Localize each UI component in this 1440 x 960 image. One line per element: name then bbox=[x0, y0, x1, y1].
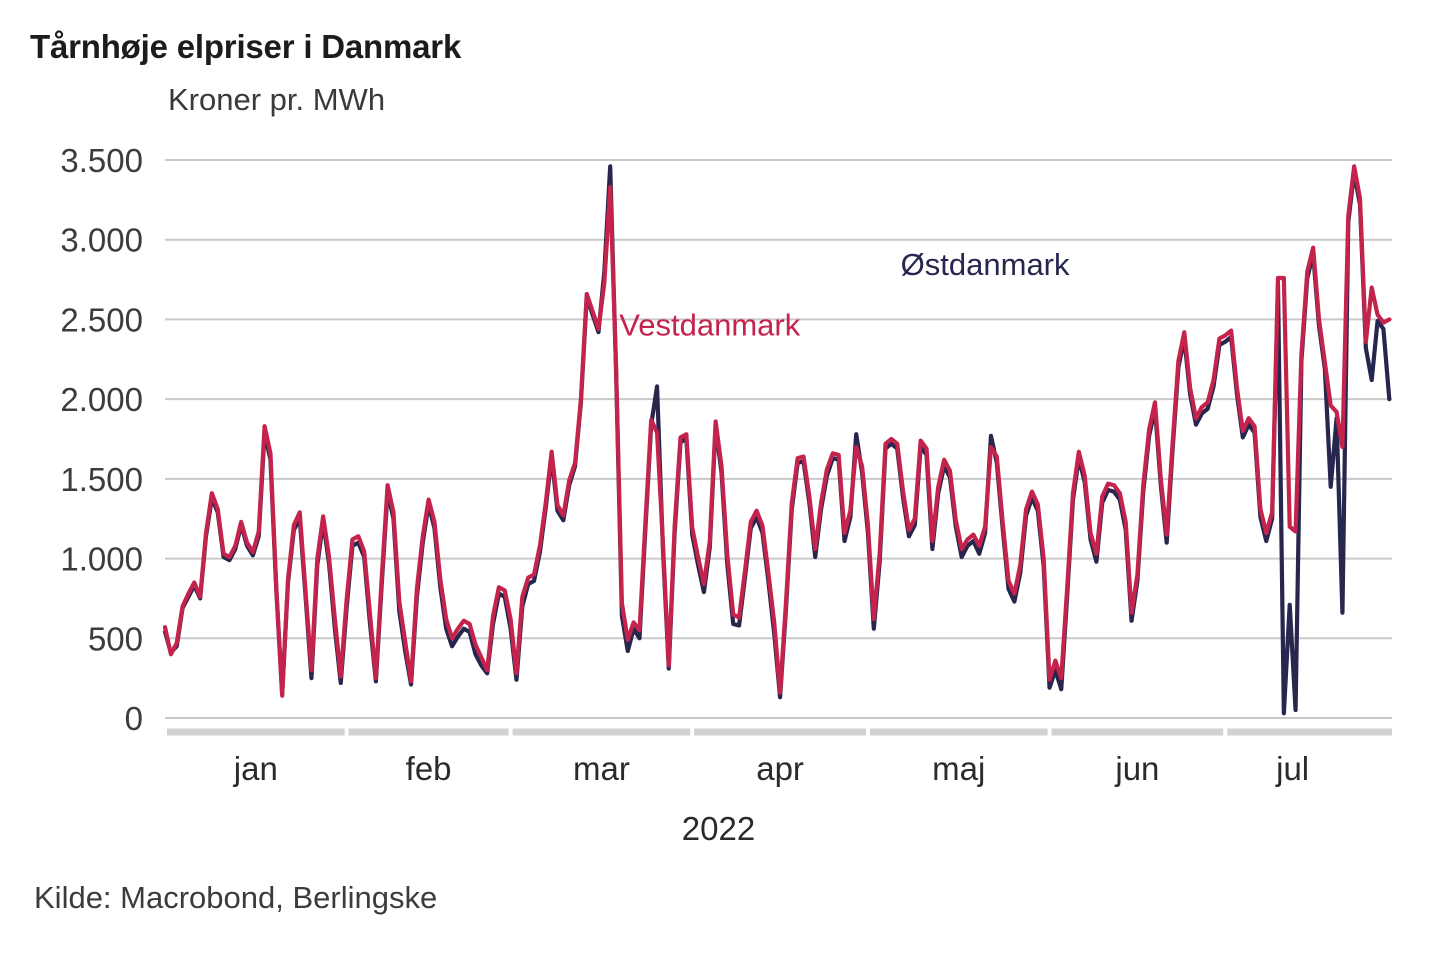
chart-page: Tårnhøje elpriser i Danmark Kroner pr. M… bbox=[0, 0, 1440, 960]
line-chart-svg: 05001.0001.5002.0002.5003.0003.500 janfe… bbox=[0, 0, 1440, 960]
x-axis-tick-label: apr bbox=[756, 750, 804, 787]
y-axis-tick-label: 1.500 bbox=[60, 461, 143, 498]
y-axis-tick-label: 3.500 bbox=[60, 142, 143, 179]
data-series bbox=[165, 166, 1389, 713]
gridlines bbox=[165, 160, 1392, 732]
series-line-ostdanmark bbox=[165, 166, 1389, 713]
x-axis-tick-label: jan bbox=[233, 750, 278, 787]
x-axis-tick-label: maj bbox=[932, 750, 985, 787]
y-axis-tick-label: 2.000 bbox=[60, 381, 143, 418]
y-axis-tick-label: 0 bbox=[125, 700, 143, 737]
y-axis-tick-label: 2.500 bbox=[60, 301, 143, 338]
series-label-vestdanmark: Vestdanmark bbox=[619, 307, 800, 342]
series-annotations: ØstdanmarkVestdanmark bbox=[619, 247, 1070, 343]
x-axis-tick-label: jul bbox=[1275, 750, 1309, 787]
source-note: Kilde: Macrobond, Berlingske bbox=[34, 880, 437, 916]
x-axis-tick-label: mar bbox=[573, 750, 630, 787]
y-axis-labels: 05001.0001.5002.0002.5003.0003.500 bbox=[60, 142, 143, 737]
x-axis-tick-label: feb bbox=[406, 750, 452, 787]
y-axis-tick-label: 1.000 bbox=[60, 541, 143, 578]
x-axis-labels: janfebmaraprmajjunjul2022 bbox=[233, 750, 1309, 847]
chart-plot-area: 05001.0001.5002.0002.5003.0003.500 janfe… bbox=[0, 0, 1440, 960]
series-label-ostdanmark: Østdanmark bbox=[901, 247, 1070, 282]
y-axis-tick-label: 500 bbox=[88, 620, 143, 657]
series-line-vestdanmark bbox=[165, 166, 1389, 695]
y-axis-tick-label: 3.000 bbox=[60, 222, 143, 259]
x-axis-title: 2022 bbox=[682, 810, 755, 847]
x-axis-tick-label: jun bbox=[1114, 750, 1159, 787]
